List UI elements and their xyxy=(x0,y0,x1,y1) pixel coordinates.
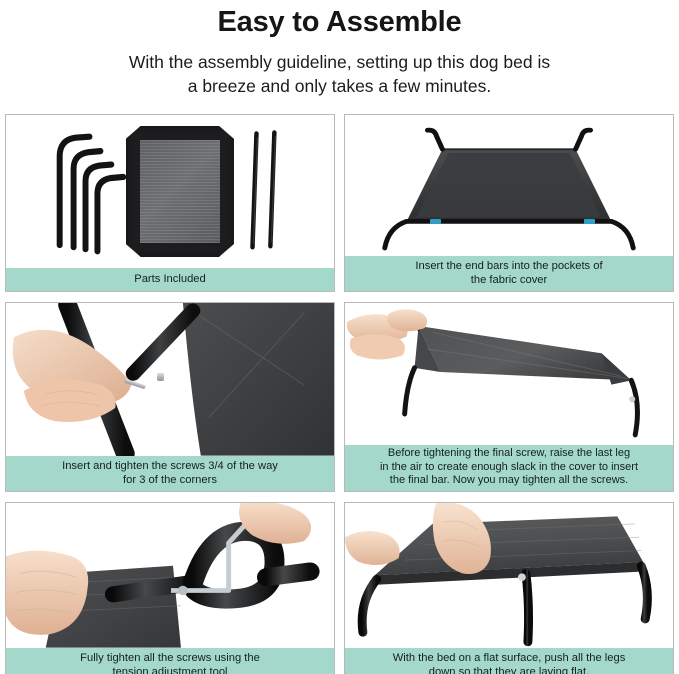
caption-line-3: the final bar. Now you may tighten all t… xyxy=(351,474,667,488)
panel-raise-last-leg-caption: Before tightening the final screw, raise… xyxy=(345,445,673,491)
panel-tighten-screws-caption: Insert and tighten the screws 3/4 of the… xyxy=(6,456,334,491)
caption-line-2: down so that they are laying flat. xyxy=(351,665,667,674)
panel-fully-tighten-screws-caption: Fully tighten all the screws using the t… xyxy=(6,648,334,674)
panel-parts-included-image xyxy=(6,115,334,268)
finished-bed-illustration xyxy=(345,503,673,648)
instruction-panel-grid: Parts Included xyxy=(5,114,674,670)
caption-line-1: With the bed on a flat surface, push all… xyxy=(351,651,667,665)
caption-line-2: the fabric cover xyxy=(351,273,667,287)
panel-push-legs-flat: With the bed on a flat surface, push all… xyxy=(344,502,674,674)
panel-parts-included-caption: Parts Included xyxy=(6,268,334,291)
page-subtitle-line-1: With the assembly guideline, setting up … xyxy=(10,50,669,74)
tension-tool-illustration xyxy=(6,503,334,648)
panel-insert-end-bars-image xyxy=(345,115,673,256)
page-header: Easy to Assemble With the assembly guide… xyxy=(0,0,679,98)
corner-tab-right xyxy=(584,219,595,224)
caption-line-1: Before tightening the final screw, raise… xyxy=(351,447,667,461)
panel-tighten-screws-image xyxy=(6,303,334,456)
caption-line-1: Insert the end bars into the pockets of xyxy=(351,259,667,273)
page-subtitle: With the assembly guideline, setting up … xyxy=(10,50,669,98)
caption-line-1: Fully tighten all the screws using the xyxy=(12,651,328,665)
corner-tab-left xyxy=(430,219,441,224)
panel-push-legs-flat-caption: With the bed on a flat surface, push all… xyxy=(345,648,673,674)
raise-leg-illustration xyxy=(345,303,673,445)
caption-line-1: Insert and tighten the screws 3/4 of the… xyxy=(12,459,328,473)
panel-fully-tighten-screws: Fully tighten all the screws using the t… xyxy=(5,502,335,674)
fabric-cover-part xyxy=(126,126,234,257)
panel-insert-end-bars-caption: Insert the end bars into the pockets of … xyxy=(345,256,673,291)
caption-line-2: for 3 of the corners xyxy=(12,473,328,487)
panel-fully-tighten-screws-image xyxy=(6,503,334,648)
page-subtitle-line-2: a breeze and only takes a few minutes. xyxy=(10,74,669,98)
page-title: Easy to Assemble xyxy=(10,4,669,40)
panel-insert-end-bars: Insert the end bars into the pockets of … xyxy=(344,114,674,292)
screw-insertion-illustration xyxy=(6,303,334,456)
panel-tighten-screws-three-corners: Insert and tighten the screws 3/4 of the… xyxy=(5,302,335,492)
panel-parts-included: Parts Included xyxy=(5,114,335,292)
caption-line-2: in the air to create enough slack in the… xyxy=(351,461,667,475)
panel-push-legs-flat-image xyxy=(345,503,673,648)
panel-raise-last-leg-image xyxy=(345,303,673,445)
bed-with-cover-illustration xyxy=(345,115,673,256)
caption-line-2: tension adjustment tool xyxy=(12,665,328,674)
screw-head xyxy=(157,373,164,381)
assembly-instructions-page: Easy to Assemble With the assembly guide… xyxy=(0,0,679,674)
panel-raise-last-leg: Before tightening the final screw, raise… xyxy=(344,302,674,492)
